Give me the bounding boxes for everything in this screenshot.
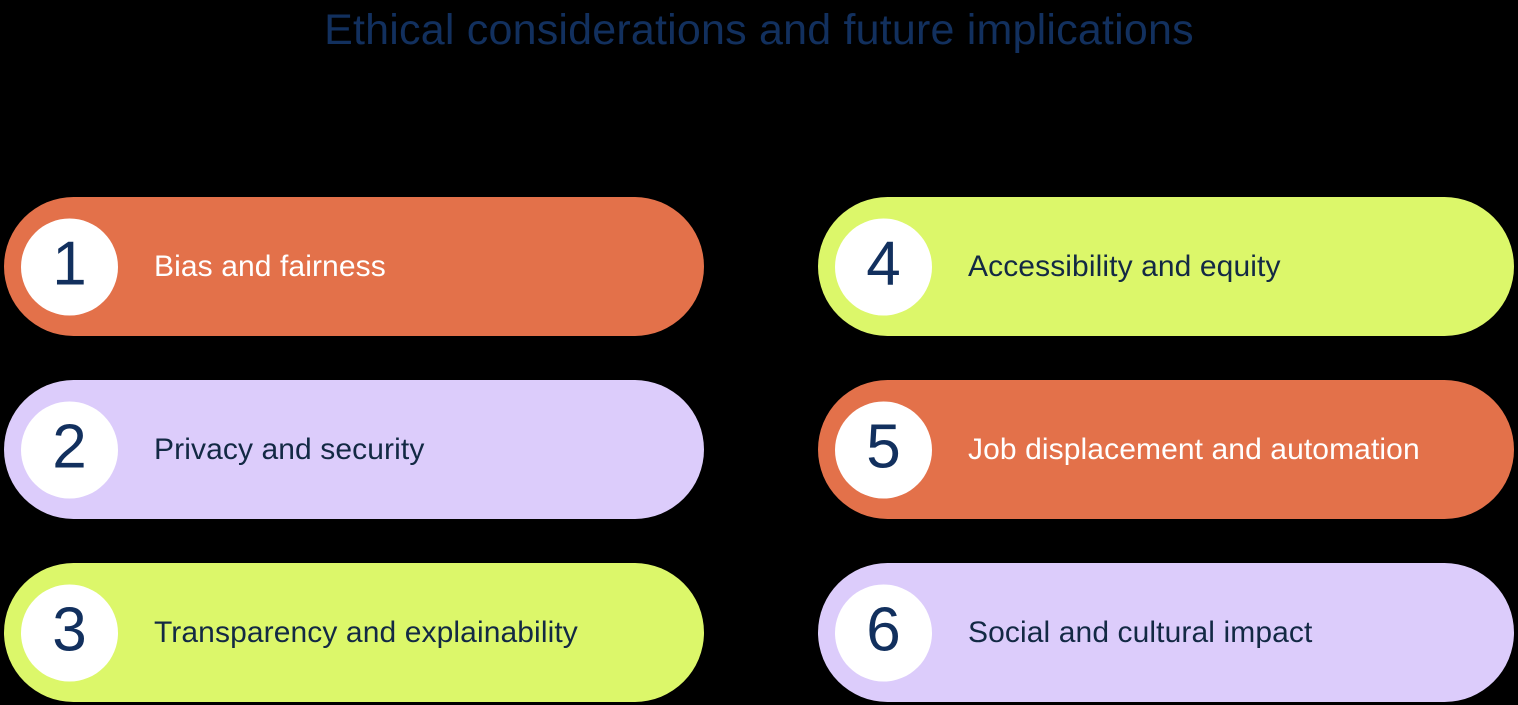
consideration-card[interactable]: 1Bias and fairness	[4, 197, 704, 336]
card-number: 1	[52, 234, 86, 296]
card-label: Privacy and security	[154, 431, 424, 469]
card-label: Accessibility and equity	[968, 248, 1281, 286]
consideration-card[interactable]: 3Transparency and explainability	[4, 563, 704, 702]
consideration-card[interactable]: 6Social and cultural impact	[818, 563, 1514, 702]
card-number-badge: 6	[835, 584, 932, 681]
card-label: Social and cultural impact	[968, 614, 1312, 652]
card-label: Job displacement and automation	[968, 431, 1420, 469]
card-label: Bias and fairness	[154, 248, 386, 286]
consideration-card[interactable]: 4Accessibility and equity	[818, 197, 1514, 336]
card-number-badge: 3	[21, 584, 118, 681]
page-title: Ethical considerations and future implic…	[0, 4, 1518, 56]
card-number: 5	[866, 417, 900, 479]
consideration-card[interactable]: 5Job displacement and automation	[818, 380, 1514, 519]
card-number-badge: 2	[21, 401, 118, 498]
card-label: Transparency and explainability	[154, 614, 578, 652]
card-number: 6	[866, 600, 900, 662]
card-number: 4	[866, 234, 900, 296]
card-number-badge: 1	[21, 218, 118, 315]
slide-canvas: Ethical considerations and future implic…	[0, 0, 1518, 705]
card-number-badge: 5	[835, 401, 932, 498]
card-number: 3	[52, 600, 86, 662]
ethical-considerations-list: 1Bias and fairness2Privacy and security3…	[0, 197, 1518, 705]
consideration-card[interactable]: 2Privacy and security	[4, 380, 704, 519]
card-number: 2	[52, 417, 86, 479]
card-number-badge: 4	[835, 218, 932, 315]
